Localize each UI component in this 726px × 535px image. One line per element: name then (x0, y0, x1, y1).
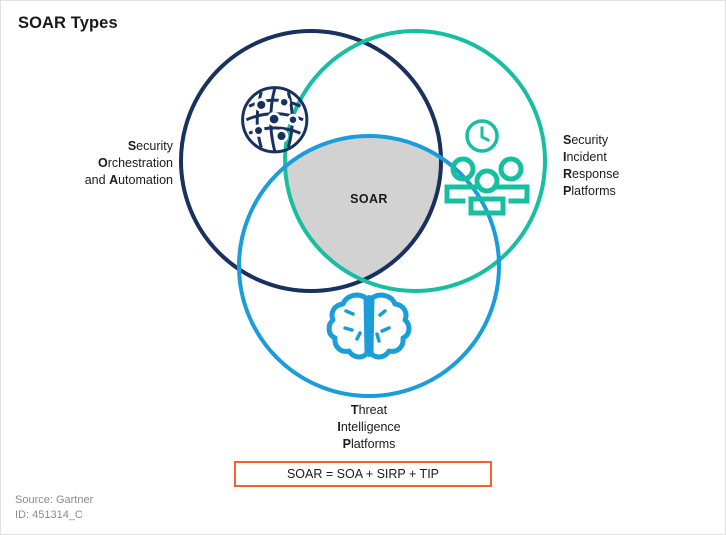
venn-label-soa-line3: and Automation (37, 172, 173, 189)
infographic-canvas: SOAR Types (0, 0, 726, 535)
footer-source: Source: Gartner (15, 493, 93, 508)
venn-label-soa-line1: Security (37, 138, 173, 155)
venn-label-tip-line2: Intelligence (289, 419, 449, 436)
formula-text: SOAR = SOA + SIRP + TIP (287, 467, 439, 481)
venn-intersection-label: SOAR (319, 192, 419, 206)
venn-label-sirp-line4: Platforms (563, 183, 713, 200)
venn-label-tip-line1: Threat (289, 402, 449, 419)
venn-diagram (1, 1, 726, 535)
team-clock-icon (447, 121, 527, 213)
venn-label-tip: Threat Intelligence Platforms (289, 402, 449, 453)
venn-label-sirp-line1: Security (563, 132, 713, 149)
network-nodes-icon (243, 88, 307, 152)
brain-icon (329, 295, 409, 357)
venn-label-sirp-line3: Response (563, 166, 713, 183)
venn-label-soa: Security Orchestration and Automation (37, 138, 173, 189)
venn-label-soa-line2: Orchestration (37, 155, 173, 172)
venn-label-sirp: Security Incident Response Platforms (563, 132, 713, 200)
formula-box: SOAR = SOA + SIRP + TIP (234, 461, 492, 487)
venn-label-sirp-line2: Incident (563, 149, 713, 166)
footer-id: ID: 451314_C (15, 508, 93, 523)
footer: Source: Gartner ID: 451314_C (15, 493, 93, 523)
venn-label-tip-line3: Platforms (289, 436, 449, 453)
